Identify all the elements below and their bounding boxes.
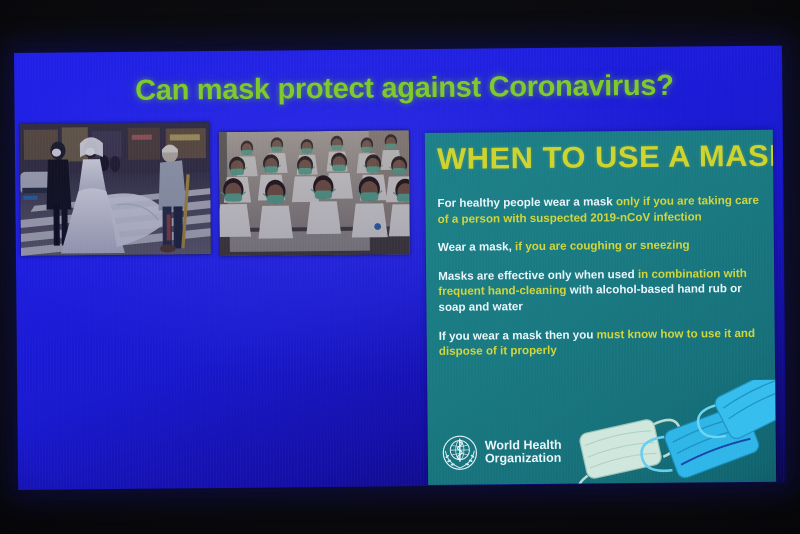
photo-schoolchildren — [219, 130, 410, 256]
who-logo-line2: Organization — [485, 452, 562, 466]
poster-body: For healthy people wear a mask only if y… — [437, 193, 765, 373]
projected-slide: Can mask protect against Coronavirus? — [14, 46, 786, 490]
poster-text-white: If you wear a mask then you — [439, 328, 597, 343]
poster-paragraph: Wear a mask, if you are coughing or snee… — [438, 237, 764, 256]
poster-text-white: For healthy people wear a mask — [437, 195, 616, 210]
poster-text-yellow: if you are coughing or sneezing — [515, 239, 690, 254]
poster-paragraph: Masks are effective only when used in co… — [438, 266, 764, 316]
surgical-masks-illustration — [571, 380, 776, 485]
poster-heading: WHEN TO USE A MASK — [437, 140, 776, 177]
who-emblem-icon — [442, 435, 478, 471]
poster-paragraph: For healthy people wear a mask only if y… — [437, 193, 763, 227]
poster-paragraph: If you wear a mask then you must know ho… — [439, 325, 765, 359]
who-logo-text: World Health Organization — [485, 438, 562, 466]
poster-text-white: Wear a mask, — [438, 240, 515, 254]
page-title: Can mask protect against Coronavirus? — [74, 69, 734, 108]
who-logo: World Health Organization — [442, 434, 562, 471]
photo-wedding-couple — [20, 122, 211, 256]
poster-text-white: Masks are effective only when used — [438, 268, 638, 283]
dark-room-background: Can mask protect against Coronavirus? — [0, 0, 800, 534]
who-poster: WHEN TO USE A MASK For healthy people we… — [425, 130, 776, 485]
